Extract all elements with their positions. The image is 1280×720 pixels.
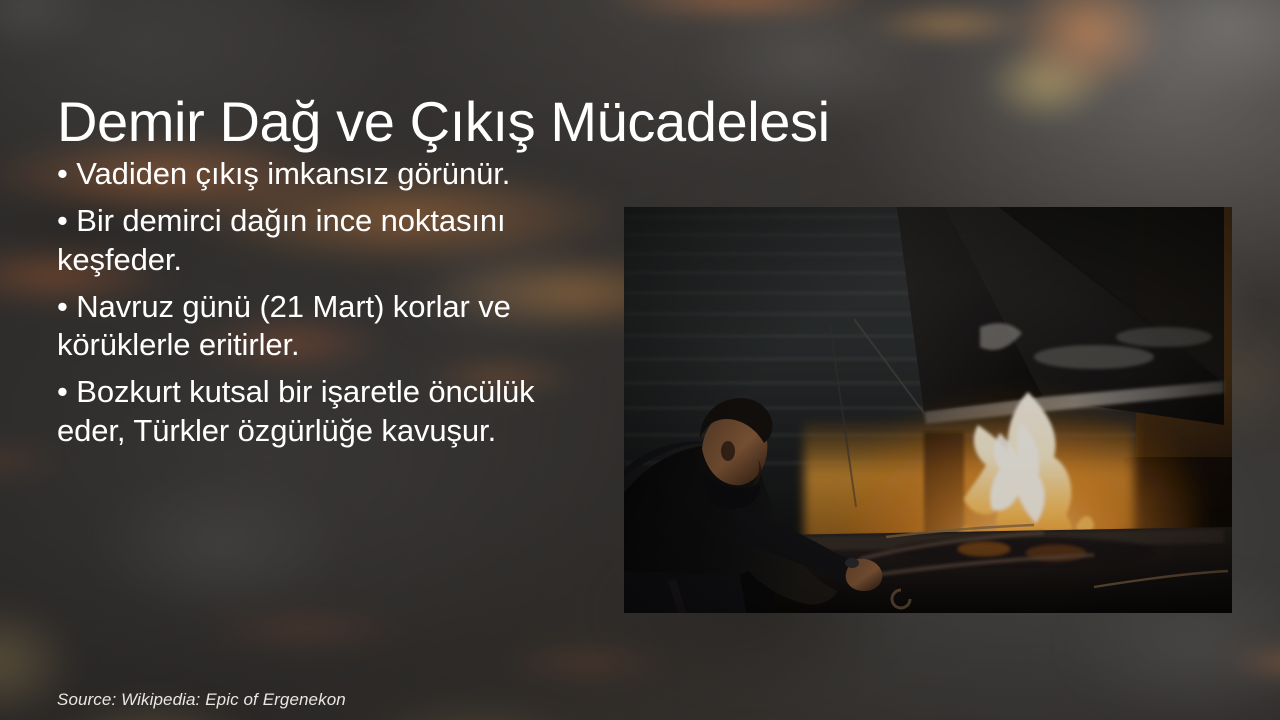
bullet-item-2: • Bir demirci dağın ince noktasını keşfe… <box>57 202 577 279</box>
bullet-item-1: • Vadiden çıkış imkansız görünür. <box>57 155 577 194</box>
blacksmith-forge-photo <box>624 207 1232 613</box>
slide-title: Demir Dağ ve Çıkış Mücadelesi <box>57 93 1177 152</box>
source-credit: Source: Wikipedia: Epic of Ergenekon <box>57 690 346 710</box>
bullet-list: • Vadiden çıkış imkansız görünür. • Bir … <box>57 155 577 450</box>
bullet-item-3: • Navruz günü (21 Mart) korlar ve körükl… <box>57 288 577 365</box>
bullet-item-4: • Bozkurt kutsal bir işaretle öncülük ed… <box>57 373 577 450</box>
presentation-slide: Demir Dağ ve Çıkış Mücadelesi • Vadiden … <box>0 0 1280 720</box>
